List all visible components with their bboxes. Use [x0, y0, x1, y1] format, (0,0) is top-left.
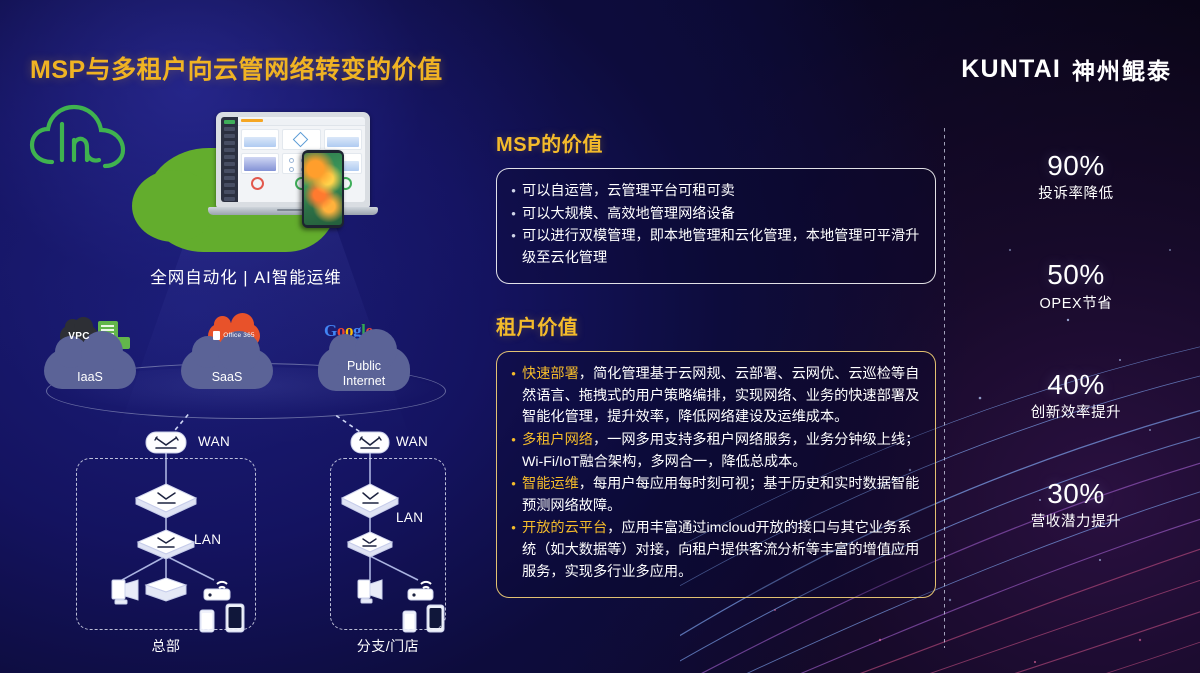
- gauge-icon: [251, 177, 264, 190]
- cloud-saas: SaaS: [181, 349, 273, 389]
- metric-caption: 创新效率提升: [952, 401, 1200, 422]
- bullet-marker: •: [508, 226, 519, 246]
- wan-label-hq: WAN: [198, 434, 230, 449]
- bullet-marker: •: [508, 204, 519, 224]
- metric-item: 50% OPEX节省: [952, 259, 1200, 312]
- hero-caption: 全网自动化 | AI智能运维: [18, 264, 474, 288]
- metric-value: 90%: [952, 150, 1200, 181]
- cloud-saas-label: SaaS: [212, 370, 243, 384]
- heatmap-screen: [304, 153, 342, 225]
- bullet-marker: •: [508, 474, 519, 494]
- slide-root: MSP与多租户向云管网络转变的价值 KUNTAI 神州鲲泰: [0, 0, 1200, 673]
- metrics-column: 90% 投诉率降低 50% OPEX节省 40% 创新效率提升 30% 营收潜力…: [952, 150, 1200, 531]
- list-item: • 快速部署，简化管理基于云网规、云部署、云网优、云巡检等自然语言、拖拽式的用户…: [508, 364, 920, 429]
- tenant-keyword: 多租户网络: [522, 432, 593, 448]
- value-propositions: MSP的价值 • 可以自运营，云管理平台可租可卖 • 可以大规模、高效地管理网络…: [496, 128, 936, 598]
- bullet-marker: •: [508, 518, 519, 538]
- laptop-device: [208, 112, 378, 230]
- metric-item: 30% 营收潜力提升: [952, 478, 1200, 531]
- cloud-public-internet: Public Internet: [318, 347, 410, 391]
- imcloud-cloud-icon: [26, 100, 134, 182]
- list-item: • 可以大规模、高效地管理网络设备: [508, 204, 920, 226]
- brand-latin-text: KUNTAI: [961, 55, 1061, 84]
- bullet-marker: •: [508, 364, 519, 384]
- cloud-iaas-label: IaaS: [77, 370, 103, 384]
- tenant-panel: • 快速部署，简化管理基于云网规、云部署、云网优、云巡检等自然语言、拖拽式的用户…: [496, 351, 936, 598]
- site-boundary-branch: [330, 458, 446, 630]
- lan-label-hq: LAN: [194, 532, 221, 547]
- tenant-bullet-text: ，每用户每应用每时刻可视；基于历史和实时数据智能预测网络故障。: [522, 476, 919, 514]
- tenant-bullet: 开放的云平台，应用丰富通过imcloud开放的接口与其它业务系统（如大数据等）对…: [522, 518, 920, 583]
- tenant-bullet: 智能运维，每用户每应用每时刻可视；基于历史和实时数据智能预测网络故障。: [522, 474, 920, 517]
- vpc-badge-label: VPC: [68, 331, 89, 342]
- list-item: • 智能运维，每用户每应用每时刻可视；基于历史和实时数据智能预测网络故障。: [508, 474, 920, 517]
- tenant-bullet-list: • 快速部署，简化管理基于云网规、云部署、云网优、云巡检等自然语言、拖拽式的用户…: [508, 364, 920, 583]
- list-item: • 开放的云平台，应用丰富通过imcloud开放的接口与其它业务系统（如大数据等…: [508, 518, 920, 583]
- product-hero: [18, 96, 474, 266]
- page-title: MSP与多租户向云管网络转变的价值: [30, 50, 443, 86]
- tenant-bullet: 多租户网络，一网多用支持多租户网络服务，业务分钟级上线；Wi-Fi/IoT融合架…: [522, 430, 920, 473]
- metric-caption: 投诉率降低: [952, 182, 1200, 203]
- metric-item: 40% 创新效率提升: [952, 369, 1200, 422]
- list-item: • 多租户网络，一网多用支持多租户网络服务，业务分钟级上线；Wi-Fi/IoT融…: [508, 430, 920, 473]
- tenant-bullet-text: ，简化管理基于云网规、云部署、云网优、云巡检等自然语言、拖拽式的用户策略编排，实…: [522, 366, 919, 425]
- network-topology: WAN LAN WAN LAN 总部 分支/门店: [18, 414, 474, 656]
- metric-value: 30%: [952, 478, 1200, 509]
- bullet-marker: •: [508, 181, 519, 201]
- tenant-section-heading: 租户价值: [496, 311, 936, 340]
- cloud-iaas: IaaS: [44, 349, 136, 389]
- msp-panel: • 可以自运营，云管理平台可租可卖 • 可以大规模、高效地管理网络设备 • 可以…: [496, 168, 936, 284]
- lan-label-branch: LAN: [396, 510, 423, 525]
- msp-bullet-list: • 可以自运营，云管理平台可租可卖 • 可以大规模、高效地管理网络设备 • 可以…: [508, 181, 920, 269]
- brand-chinese-text: 神州鲲泰: [1072, 52, 1172, 86]
- router-icon-hq-wan: [146, 432, 186, 453]
- site-boundary-hq: [76, 458, 256, 630]
- site-label-hq: 总部: [76, 636, 256, 656]
- vertical-dotted-divider: [944, 128, 945, 648]
- cloud-internet-label-line2: Internet: [343, 374, 385, 388]
- list-item: • 可以自运营，云管理平台可租可卖: [508, 181, 920, 203]
- architecture-illustration: 全网自动化 | AI智能运维 VPC IaaS Office 365 SaaS …: [18, 96, 474, 656]
- dashboard-topbar: [238, 119, 365, 126]
- msp-bullet-text: 可以进行双模管理，即本地管理和云化管理，本地管理可平滑升级至云化管理: [522, 226, 920, 269]
- metric-item: 90% 投诉率降低: [952, 150, 1200, 203]
- metric-value: 50%: [952, 259, 1200, 290]
- cloud-internet-label-line1: Public: [347, 359, 381, 373]
- dashboard-sidebar: [221, 117, 238, 202]
- bullet-marker: •: [508, 430, 519, 450]
- brand-logo: KUNTAI 神州鲲泰: [961, 52, 1172, 86]
- msp-bullet-text: 可以大规模、高效地管理网络设备: [522, 204, 920, 226]
- wan-label-branch: WAN: [396, 434, 428, 449]
- tenant-keyword: 开放的云平台: [522, 520, 607, 536]
- cloud-services-row: VPC IaaS Office 365 SaaS Google Public I…: [18, 301, 474, 426]
- site-label-branch: 分支/门店: [330, 636, 446, 656]
- phone-device: [302, 150, 344, 228]
- tenant-bullet: 快速部署，简化管理基于云网规、云部署、云网优、云巡检等自然语言、拖拽式的用户策略…: [522, 364, 920, 429]
- dashboard-chart-card: [241, 153, 279, 174]
- laptop-base: [208, 207, 378, 215]
- router-icon-branch-wan: [351, 432, 389, 453]
- dashboard-chart-card: [324, 129, 362, 150]
- list-item: • 可以进行双模管理，即本地管理和云化管理，本地管理可平滑升级至云化管理: [508, 226, 920, 269]
- metric-value: 40%: [952, 369, 1200, 400]
- tenant-keyword: 快速部署: [522, 366, 579, 382]
- metric-caption: 营收潜力提升: [952, 510, 1200, 531]
- laptop-lid: [216, 112, 370, 208]
- tenant-keyword: 智能运维: [522, 476, 579, 492]
- msp-bullet-text: 可以自运营，云管理平台可租可卖: [522, 181, 920, 203]
- dashboard-topology-card: [282, 129, 320, 150]
- office365-label: Office 365: [223, 332, 255, 339]
- msp-section-heading: MSP的价值: [496, 128, 936, 157]
- dashboard-chart-card: [241, 129, 279, 150]
- metric-caption: OPEX节省: [952, 292, 1200, 313]
